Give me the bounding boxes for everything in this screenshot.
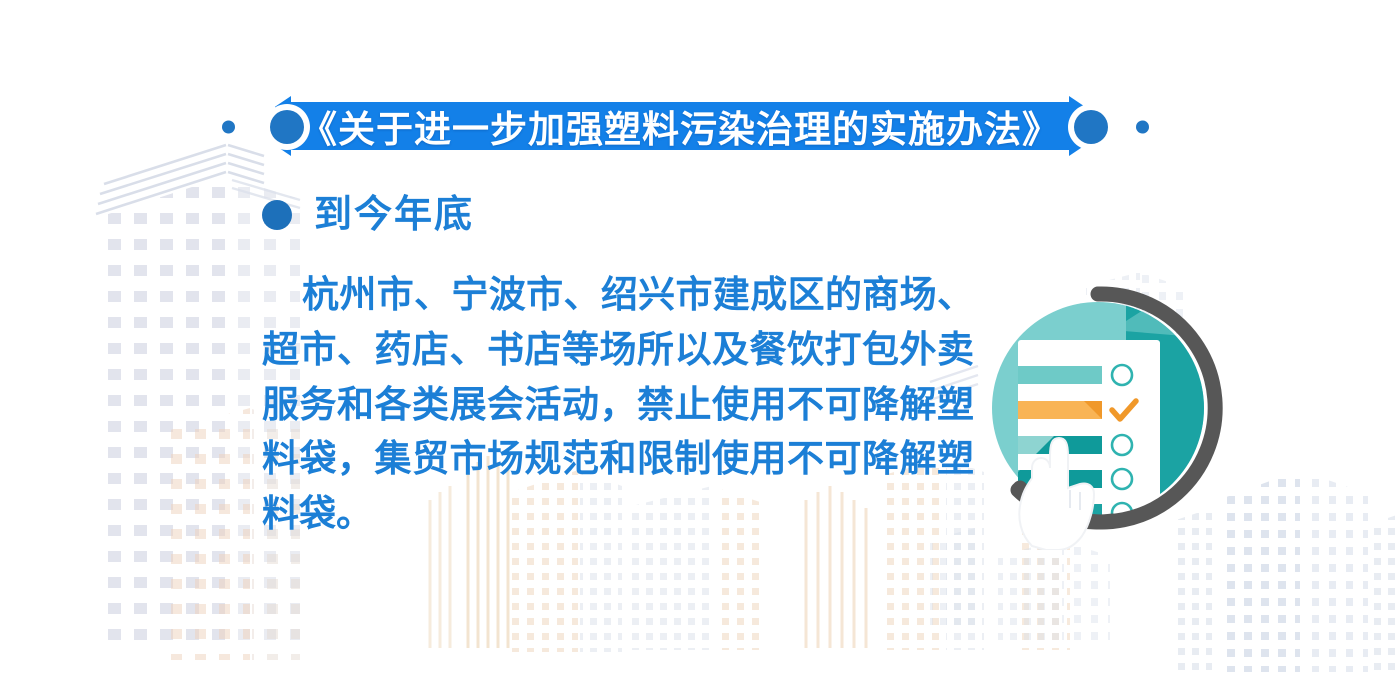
banner-right-cap-icon	[1068, 104, 1114, 150]
banner-right-mini-dot	[1136, 121, 1149, 134]
subheading-bullet-icon	[262, 200, 292, 230]
banner-right-cap-dot	[1074, 110, 1108, 144]
body-paragraph: 杭州市、宁波市、绍兴市建成区的商场、超市、药店、书店等场所以及餐饮打包外卖服务和…	[262, 268, 974, 542]
checklist-illustration	[962, 278, 1234, 550]
banner-left-cap-dot	[270, 110, 304, 144]
subheading: 到今年底	[262, 196, 474, 234]
banner-title: 《关于进一步加强塑料污染治理的实施办法》	[287, 102, 1073, 150]
banner-left-cap-icon	[264, 104, 310, 150]
poster-canvas: 《关于进一步加强塑料污染治理的实施办法》 到今年底 杭州市、宁波市、绍兴市建成区…	[0, 0, 1400, 700]
subheading-label: 到今年底	[314, 196, 474, 234]
banner-left-mini-dot	[222, 121, 235, 134]
title-banner: 《关于进一步加强塑料污染治理的实施办法》	[0, 96, 1400, 158]
